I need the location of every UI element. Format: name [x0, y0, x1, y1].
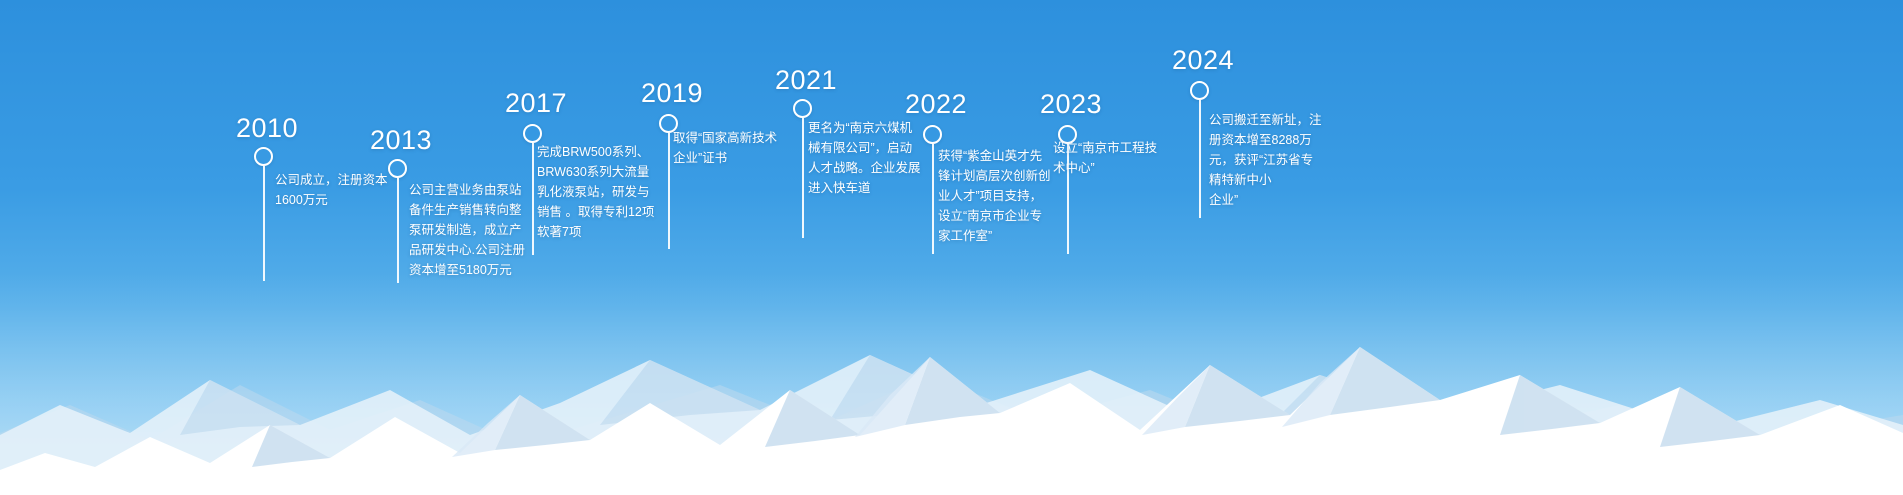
- timeline-marker-dot-2013[interactable]: [388, 159, 407, 178]
- timeline-marker-dot-2024[interactable]: [1190, 81, 1209, 100]
- timeline-description-2013: 公司主营业务由泵站 备件生产销售转向整 泵研发制造，成立产 品研发中心.公司注册…: [409, 180, 549, 280]
- timeline-marker-dot-2021[interactable]: [793, 99, 812, 118]
- timeline: 2010 公司成立，注册资本 1600万元 2013 公司主营业务由泵站 备件生…: [0, 0, 1903, 495]
- timeline-year-2023: 2023: [1040, 89, 1102, 120]
- timeline-year-2022: 2022: [905, 89, 967, 120]
- timeline-stem-2024: [1199, 100, 1201, 218]
- timeline-year-2017: 2017: [505, 88, 567, 119]
- timeline-marker-dot-2017[interactable]: [523, 124, 542, 143]
- timeline-description-2017: 完成BRW500系列、 BRW630系列大流量 乳化液泵站，研发与 销售 。取得…: [537, 142, 689, 242]
- timeline-year-2021: 2021: [775, 65, 837, 96]
- timeline-description-2023: 设立“南京市工程技 术中心”: [1053, 138, 1198, 178]
- timeline-year-2013: 2013: [370, 125, 432, 156]
- timeline-description-2024: 公司搬迁至新址，注 册资本增至8288万 元，获评“江苏省专 精特新中小 企业”: [1209, 110, 1354, 210]
- timeline-stem-2019: [668, 133, 670, 249]
- timeline-year-2024: 2024: [1172, 45, 1234, 76]
- timeline-description-2019: 取得“国家高新技术 企业”证书: [673, 128, 813, 168]
- timeline-marker-dot-2010[interactable]: [254, 147, 273, 166]
- timeline-stem-2017: [532, 143, 534, 255]
- timeline-marker-dot-2022[interactable]: [923, 125, 942, 144]
- timeline-stem-2013: [397, 178, 399, 283]
- timeline-year-2019: 2019: [641, 78, 703, 109]
- timeline-stem-2021: [802, 118, 804, 238]
- timeline-stem-2010: [263, 166, 265, 281]
- timeline-year-2010: 2010: [236, 113, 298, 144]
- timeline-stem-2022: [932, 144, 934, 254]
